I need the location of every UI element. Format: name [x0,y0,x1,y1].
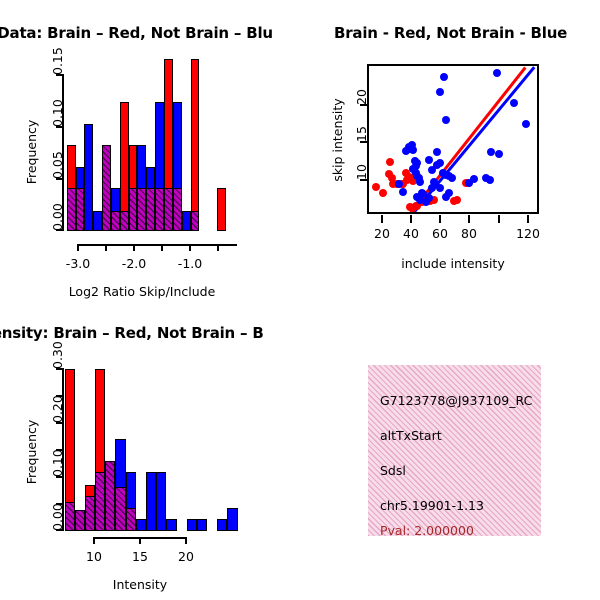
hist-bar-blue [217,519,227,531]
intensity-hist-xlabel-10: 10 [86,549,102,564]
scatter-point [445,189,453,197]
gene-info-box: G7123778@J937109_RCaltTxStartSdslchr5.19… [368,365,541,536]
scatter-ylabel-15: 15 [354,126,369,142]
intensity-hist-y-axis-label: Frequency [24,420,39,485]
hist-bar-blue [227,508,237,531]
scatter-xtick-20 [381,215,383,223]
scatter-xlabel-40: 40 [403,226,419,241]
scatter-points-layer [369,66,537,212]
hist-bar-overlap [164,188,173,231]
info-line-locus: chr5.19901-1.13 [380,498,484,513]
ratio-hist-y-axis-label: Frequency [24,120,39,185]
ratio-hist-xtick-2 [105,244,107,251]
scatter-xtick-80 [468,215,470,223]
scatter-point [470,175,478,183]
hist-bar-overlap [129,188,138,231]
hist-bar-overlap [67,188,76,231]
panel-info: G7123778@J937109_RCaltTxStartSdslchr5.19… [300,300,600,600]
intensity-hist-ylabel-010: 0.10 [50,449,65,477]
scatter-point [425,156,433,164]
scatter-xtick-40 [410,215,412,223]
scatter-point [395,180,403,188]
hist-bar-overlap [173,188,182,231]
info-line-event-type: altTxStart [380,428,442,443]
scatter-xtick-120 [527,215,529,223]
ratio-hist-x-axis-label: Log2 Ratio Skip/Include [69,284,216,299]
ratio-histogram-title: RatioData: Brain – Red, Not Brain – Blu [0,24,273,42]
hist-bar-blue [84,124,93,231]
hist-bar-overlap [95,472,105,531]
info-line-probe-id: G7123778@J937109_RC [380,393,532,408]
intensity-hist-ylabel-000: 0.00 [50,503,65,531]
scatter-point [379,189,387,197]
hist-bar-overlap [76,188,85,231]
scatter-point [436,159,444,167]
hist-bar-blue [136,519,146,531]
scatter-title: Brain - Red, Not Brain - Blue [334,24,567,42]
ratio-hist-ylabel-005: 0.05 [50,151,65,179]
hist-bar-overlap [115,487,125,531]
scatter-point [436,88,444,96]
hist-bar-overlap [155,188,164,231]
intensity-hist-xlabel-20: 20 [178,549,194,564]
scatter-regression-line [409,67,527,212]
intensity-hist-xtick-20 [185,537,187,544]
intensity-hist-xlabel-15: 15 [132,549,148,564]
info-line-gene-symbol: Sdsl [380,463,406,478]
ratio-hist-xtick-3 [133,244,135,251]
panel-intensity-histogram: ne Itensity: Brain – Red, Not Brain – B … [0,300,300,600]
scatter-point [436,184,444,192]
hist-bar-red [191,59,200,231]
scatter-xlabel-80: 80 [461,226,477,241]
ratio-hist-xtick-6 [217,244,219,251]
panel-scatter: Brain - Red, Not Brain - Blue 20 15 10 s… [300,0,600,300]
scatter-point [425,194,433,202]
scatter-point [433,148,441,156]
scatter-point [399,188,407,196]
scatter-xtick-60 [439,215,441,223]
scatter-point [416,178,424,186]
hist-bar-overlap [111,211,120,231]
ratio-hist-ylabel-015: 0.15 [50,47,65,75]
hist-bar-overlap [85,496,95,531]
scatter-point [386,158,394,166]
intensity-hist-ylabel-020: 0.20 [50,395,65,423]
intensity-hist-xtick-15 [139,537,141,544]
scatter-point [510,99,518,107]
hist-bar-blue [166,519,176,531]
scatter-xlabel-60: 60 [432,226,448,241]
scatter-point [493,69,501,77]
intensity-histogram-title: ne Itensity: Brain – Red, Not Brain – B [0,324,264,342]
scatter-point [453,196,461,204]
hist-bar-red [217,188,226,231]
hist-bar-blue [146,472,156,531]
hist-bar-blue [93,211,102,231]
hist-bar-overlap [146,188,155,231]
scatter-ylabel-20: 20 [354,89,369,105]
ratio-hist-xtick-4 [161,244,163,251]
intensity-hist-ylabel-030: 0.30 [50,341,65,369]
scatter-x-axis-label: include intensity [401,256,504,271]
scatter-y-axis-label: skip intensity [330,98,345,181]
hist-bar-blue [197,519,207,531]
info-line-pvalue: Pval: 2.000000 [380,523,474,536]
scatter-xlabel-120: 120 [516,226,540,241]
scatter-point [486,176,494,184]
hist-bar-overlap [126,508,136,531]
hist-bar-overlap [102,145,111,231]
hist-bar-blue [182,211,191,231]
scatter-point [409,146,417,154]
ratio-hist-xlabel-n30: -3.0 [66,256,90,271]
ratio-hist-xtick-5 [189,244,191,251]
hist-bar-overlap [137,188,146,231]
scatter-point [448,174,456,182]
intensity-hist-x-axis-label: Intensity [113,577,167,592]
ratio-hist-ylabel-000: 0.00 [50,203,65,231]
intensity-hist-xtick-10 [93,537,95,544]
ratio-hist-xtick-1 [77,244,79,251]
scatter-point [440,73,448,81]
hist-bar-overlap [75,510,85,531]
ratio-hist-x-axis [77,244,237,246]
ratio-hist-xlabel-n10: -1.0 [178,256,202,271]
hist-bar-overlap [120,211,129,231]
scatter-xlabel-20: 20 [374,226,390,241]
ratio-hist-ylabel-010: 0.10 [50,99,65,127]
figure-canvas: RatioData: Brain – Red, Not Brain – Blu … [0,0,600,600]
scatter-point [522,120,530,128]
scatter-point [495,150,503,158]
hist-bar-overlap [65,502,75,531]
hist-bar-blue [156,472,166,531]
hist-bar-blue [187,519,197,531]
scatter-ylabel-10: 10 [354,164,369,180]
scatter-xtick-100 [498,215,500,223]
scatter-point [442,116,450,124]
ratio-hist-xlabel-n20: -2.0 [122,256,146,271]
hist-bar-overlap [191,211,200,231]
hist-bar-overlap [105,461,115,531]
panel-ratio-histogram: RatioData: Brain – Red, Not Brain – Blu … [0,0,300,300]
